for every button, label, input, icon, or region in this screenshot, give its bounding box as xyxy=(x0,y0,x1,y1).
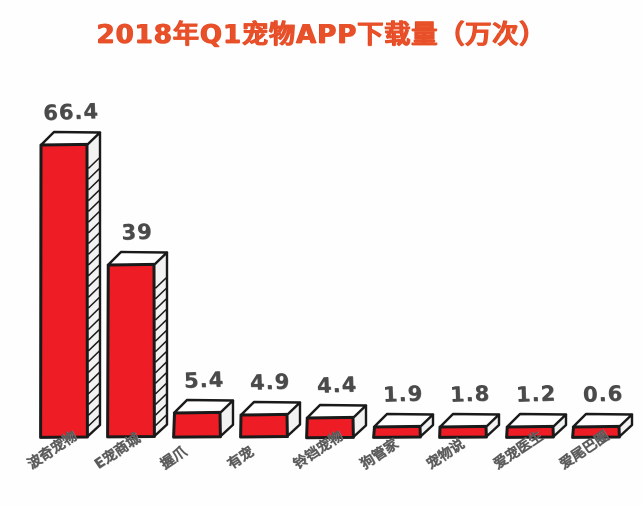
bar-shape-icon xyxy=(368,408,441,445)
bar-4 xyxy=(235,396,308,445)
chart-container: 2018年Q1宠物APP下载量（万次） 66.4波奇宠物39E宠商城5.4握爪4… xyxy=(0,0,643,506)
bar-shape-icon xyxy=(35,126,108,445)
category-label-4: 有宠 xyxy=(223,441,257,473)
bar-7 xyxy=(434,408,507,445)
bar-shape-icon xyxy=(434,408,507,445)
bar-shape-icon xyxy=(168,394,241,445)
bar-shape-icon xyxy=(235,396,308,445)
bar-shape-icon xyxy=(102,246,175,445)
bar-6 xyxy=(368,408,441,445)
bar-2 xyxy=(102,246,175,445)
bar-value-label-2: 39 xyxy=(77,218,198,246)
bar-value-label-9: 0.6 xyxy=(542,380,643,408)
plot-area: 66.4波奇宠物39E宠商城5.4握爪4.9有宠4.4铃铛宠物1.9狗管家1.8… xyxy=(0,0,643,506)
category-label-3: 握爪 xyxy=(156,441,190,473)
bar-3 xyxy=(168,394,241,445)
bar-1 xyxy=(35,126,108,445)
bar-value-label-1: 66.4 xyxy=(10,98,131,126)
